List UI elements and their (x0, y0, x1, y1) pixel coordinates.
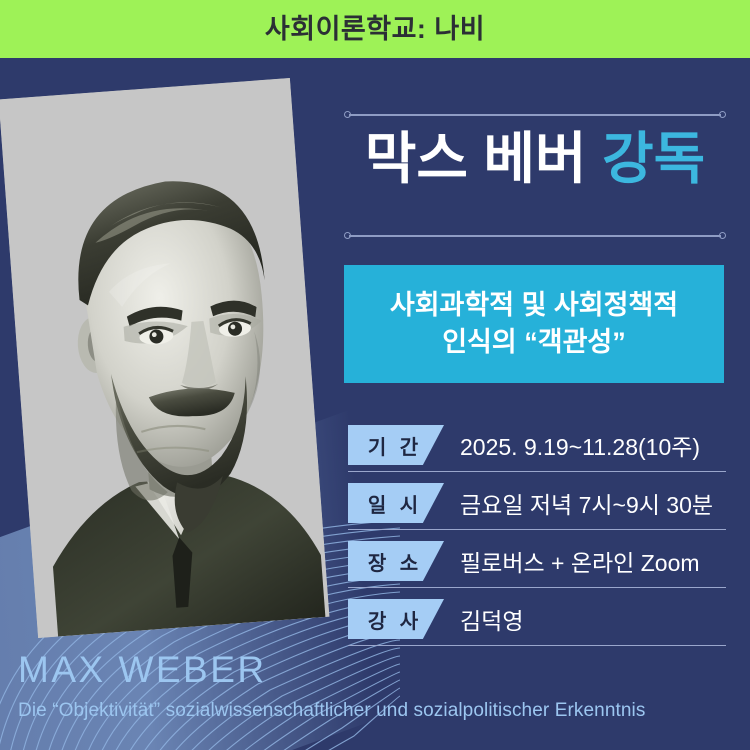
subtitle-text: 사회과학적 및 사회정책적 인식의 “객관성” (390, 287, 678, 362)
info-value-instructor: 김덕영 (460, 594, 523, 644)
top-banner: 사회이론학교: 나비 (0, 0, 750, 58)
info-label-instructor: 강 사 (364, 605, 422, 634)
info-row-underline (348, 645, 726, 647)
title-main-text: 막스 베버 (365, 127, 587, 190)
divider-line (349, 235, 721, 237)
info-row-location: 장 소 필로버스 + 온라인 Zoom (348, 536, 726, 594)
divider-top (344, 110, 726, 120)
divider-line (349, 114, 721, 116)
info-row-underline (348, 587, 726, 589)
brand-subtitle: Die “Objektivität” sozialwissenschaftlic… (18, 700, 645, 722)
portrait-card (0, 78, 329, 638)
info-tag-location: 장 소 (348, 541, 444, 581)
info-row-datetime: 일 시 금요일 저녁 7시~9시 30분 (348, 478, 726, 536)
info-value-period: 2025. 9.19~11.28(10주) (460, 420, 700, 470)
subtitle-line-1: 사회과학적 및 사회정책적 (390, 287, 678, 324)
brand-block: MAX WEBER (18, 651, 267, 688)
info-value-location: 필로버스 + 온라인 Zoom (460, 536, 700, 586)
info-row-underline (348, 471, 726, 473)
banner-title: 사회이론학교: 나비 (265, 16, 485, 43)
info-row-instructor: 강 사 김덕영 (348, 594, 726, 652)
content-column: 막스 베버 강독 사회과학적 및 사회정책적 인식의 “객관성” 기 간 202… (344, 0, 726, 750)
max-weber-portrait-image (0, 78, 329, 638)
page-title: 막스 베버 강독 (344, 130, 726, 189)
info-row-underline (348, 529, 726, 531)
subtitle-line-2: 인식의 “객관성” (390, 324, 678, 361)
info-list: 기 간 2025. 9.19~11.28(10주) 일 시 금요일 저녁 7시~… (348, 420, 726, 652)
info-label-location: 장 소 (364, 547, 422, 576)
info-tag-instructor: 강 사 (348, 599, 444, 639)
brand-name: MAX WEBER (18, 651, 267, 688)
poster-root: 사회이론학교: 나비 막스 베버 강독 사회과학적 및 사회정책적 인식의 “객… (0, 0, 750, 750)
info-label-period: 기 간 (364, 431, 422, 460)
info-label-datetime: 일 시 (364, 489, 422, 518)
info-value-datetime: 금요일 저녁 7시~9시 30분 (460, 478, 713, 528)
info-row-period: 기 간 2025. 9.19~11.28(10주) (348, 420, 726, 478)
subtitle-banner: 사회과학적 및 사회정책적 인식의 “객관성” (344, 265, 724, 383)
title-accent-text: 강독 (602, 127, 705, 190)
divider-bottom (344, 231, 726, 241)
divider-dot-right-icon (719, 232, 726, 239)
info-tag-period: 기 간 (348, 425, 444, 465)
divider-dot-right-icon (719, 111, 726, 118)
info-tag-datetime: 일 시 (348, 483, 444, 523)
